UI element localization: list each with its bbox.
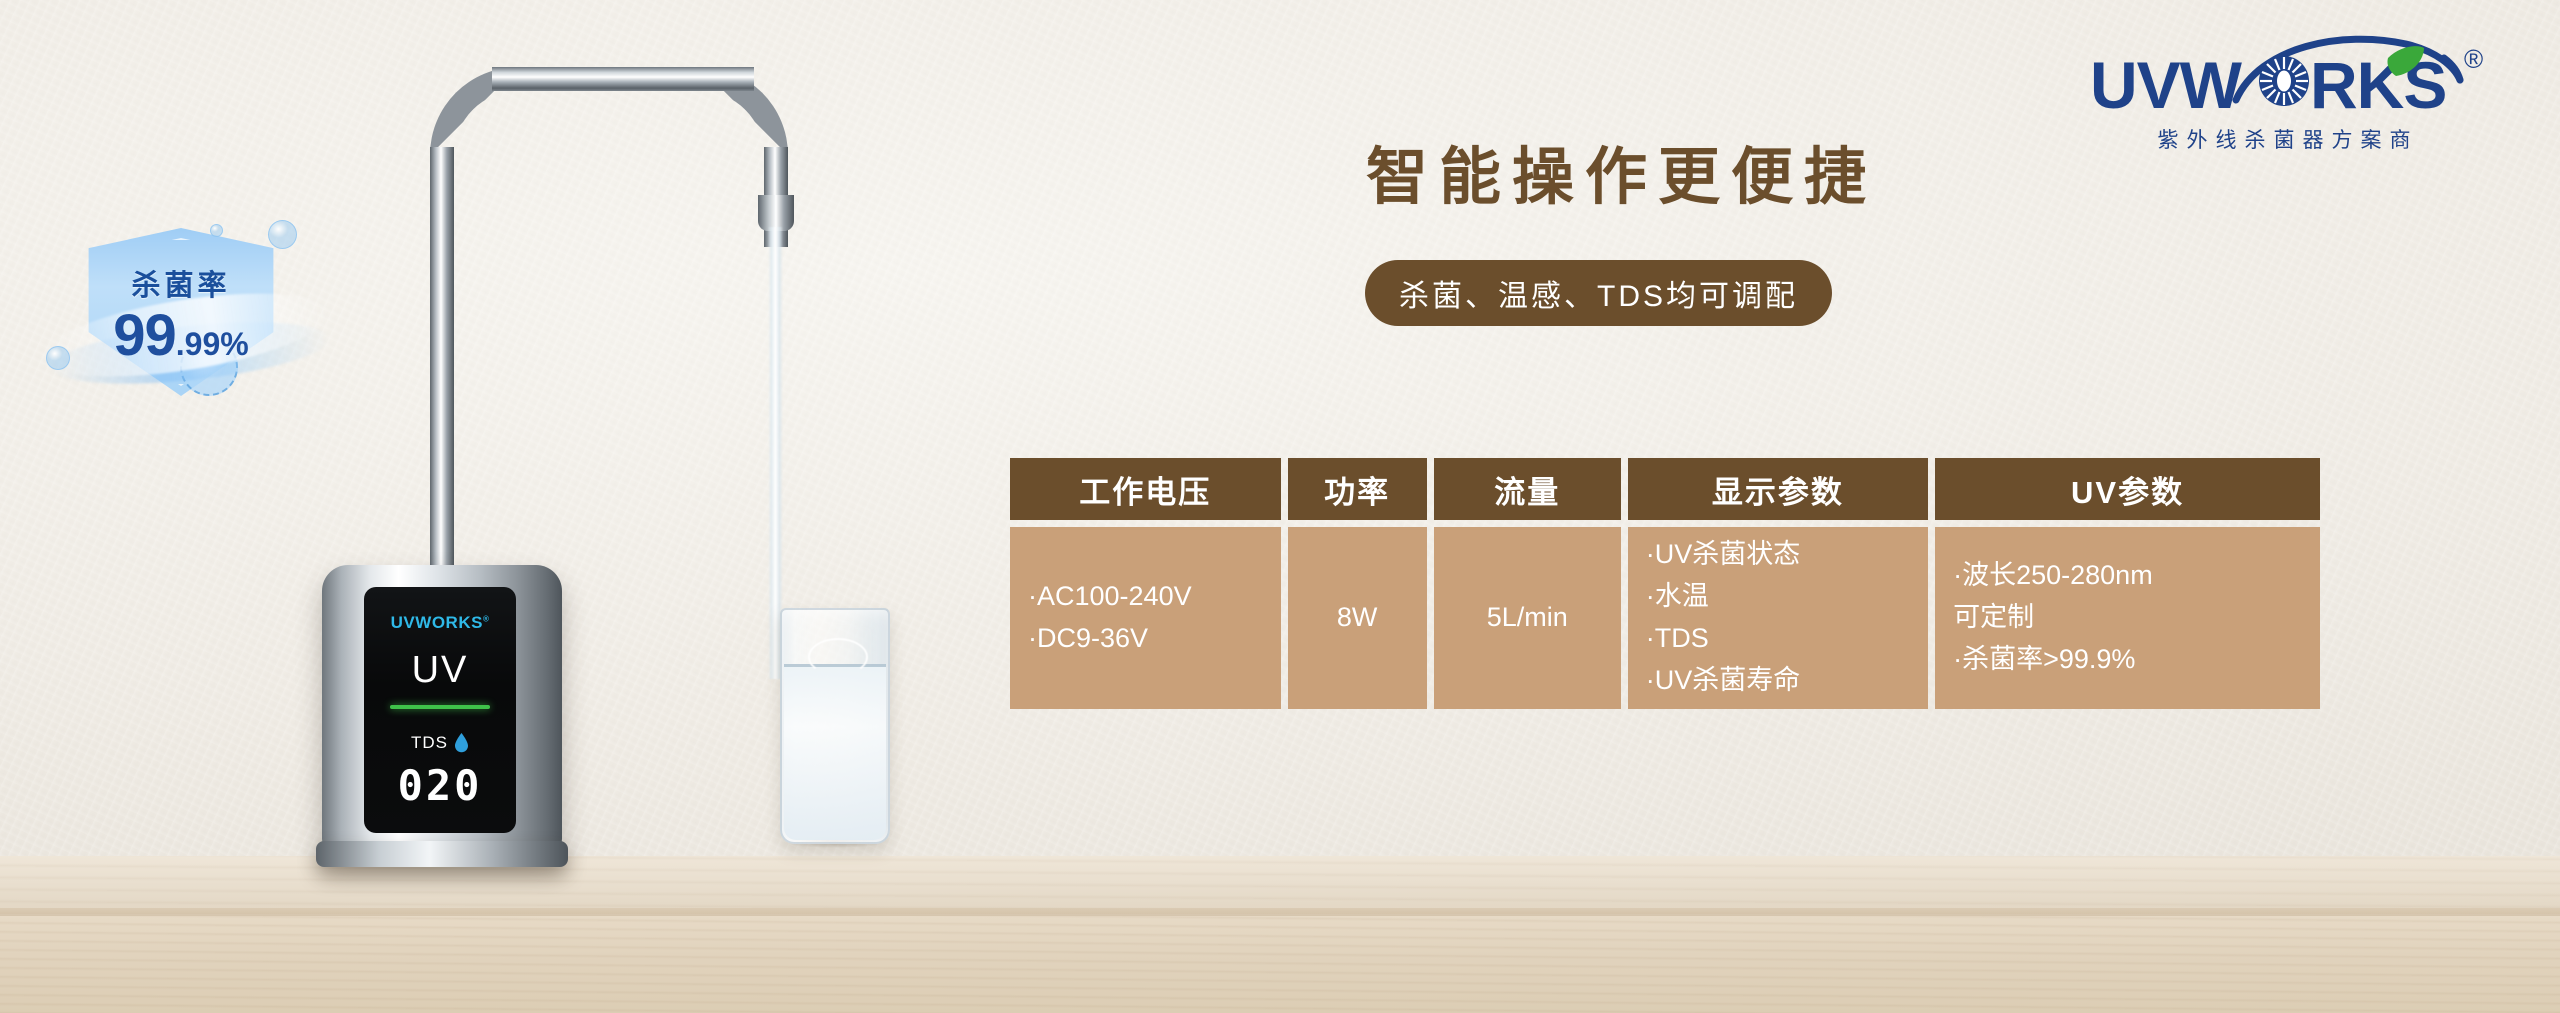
spec-line: ·TDS — [1646, 618, 1709, 660]
device-tds-label: TDS — [411, 733, 448, 753]
spec-column-uv-parameters: UV参数 ·波长250-280nm 可定制 ·杀菌率>99.9% — [1935, 458, 2320, 709]
spec-line: 可定制 — [1953, 597, 2034, 639]
spec-column-flow-rate: 流量 5L/min — [1434, 458, 1621, 709]
specification-table: 工作电压 ·AC100-240V ·DC9-36V 功率 8W 流量 5L/mi… — [1010, 458, 2320, 709]
page-title: 智能操作更便捷 — [1366, 126, 1877, 216]
bubble-icon-small — [210, 224, 223, 237]
sterilization-rate-badge: 杀菌率 99.99% — [40, 218, 330, 398]
device-status-bar — [390, 705, 490, 709]
water-drop-icon — [454, 733, 469, 753]
spec-column-working-voltage: 工作电压 ·AC100-240V ·DC9-36V — [1010, 458, 1281, 709]
device-mode-label: UV — [364, 649, 516, 692]
counter-front-grain — [0, 916, 2560, 1013]
spec-cell: ·波长250-280nm 可定制 ·杀菌率>99.9% — [1935, 527, 2320, 709]
spec-header: 工作电压 — [1010, 458, 1281, 520]
svg-text:®: ® — [2464, 44, 2483, 74]
spec-line: ·AC100-240V — [1028, 576, 1192, 618]
spec-header: 流量 — [1434, 458, 1621, 520]
spec-line: ·DC9-36V — [1028, 618, 1148, 660]
uvworks-logo-icon: UVW — [2088, 28, 2488, 120]
badge-label: 杀菌率 — [76, 262, 286, 304]
faucet-horizontal-arm — [492, 67, 754, 91]
svg-text:UVW: UVW — [2090, 48, 2243, 120]
faucet-left-leg — [430, 147, 454, 595]
spec-header: UV参数 — [1935, 458, 2320, 520]
bubble-icon-large — [268, 220, 297, 249]
faucet — [400, 55, 820, 575]
spec-cell: ·AC100-240V ·DC9-36V — [1010, 527, 1281, 709]
brand-logo: UVW — [2088, 28, 2488, 158]
glass-splash — [808, 638, 868, 676]
spec-line: ·波长250-280nm — [1953, 555, 2153, 597]
spec-header: 显示参数 — [1628, 458, 1928, 520]
bubble-icon-medium — [46, 346, 70, 370]
device-base — [316, 841, 568, 867]
brand-tagline: 紫外线杀菌器方案商 — [2088, 124, 2488, 154]
svg-text:RKS: RKS — [2310, 48, 2446, 120]
water-glass — [780, 608, 890, 848]
badge-value-integer: 99 — [113, 303, 176, 368]
spec-cell: ·UV杀菌状态 ·水温 ·TDS ·UV杀菌寿命 — [1628, 527, 1928, 709]
spec-line: 5L/min — [1487, 597, 1568, 639]
faucet-spout — [758, 195, 794, 231]
spec-header: 功率 — [1288, 458, 1427, 520]
spec-line: ·UV杀菌寿命 — [1646, 660, 1801, 702]
device-screen-logo: UVWORKS® — [364, 613, 516, 633]
device-screen-logo-trademark: ® — [483, 614, 489, 623]
spec-line: ·UV杀菌状态 — [1646, 534, 1801, 576]
spec-column-power: 功率 8W — [1288, 458, 1427, 709]
device-display-screen: UVWORKS® UV TDS 020 — [364, 587, 516, 833]
uv-sterilizer-device: UVWORKS® UV TDS 020 — [322, 565, 562, 865]
spec-line: 8W — [1337, 597, 1378, 639]
badge-value: 99.99% — [76, 302, 286, 369]
device-tds-value: 020 — [364, 761, 516, 810]
subtitle-text: 杀菌、温感、TDS均可调配 — [1399, 271, 1798, 315]
device-tds-row: TDS — [364, 733, 516, 753]
badge-value-fraction: .99% — [176, 326, 249, 362]
subtitle-pill: 杀菌、温感、TDS均可调配 — [1365, 260, 1832, 326]
spec-line: ·杀菌率>99.9% — [1953, 639, 2135, 681]
spec-cell: 8W — [1288, 527, 1427, 709]
product-banner: UVWORKS® UV TDS 020 杀菌率 9 — [0, 0, 2560, 1013]
spec-column-display-parameters: 显示参数 ·UV杀菌状态 ·水温 ·TDS ·UV杀菌寿命 — [1628, 458, 1928, 709]
spec-cell: 5L/min — [1434, 527, 1621, 709]
glass-water-fill — [784, 666, 886, 840]
spec-line: ·水温 — [1646, 576, 1709, 618]
device-screen-logo-text: UVWORKS — [391, 613, 483, 632]
